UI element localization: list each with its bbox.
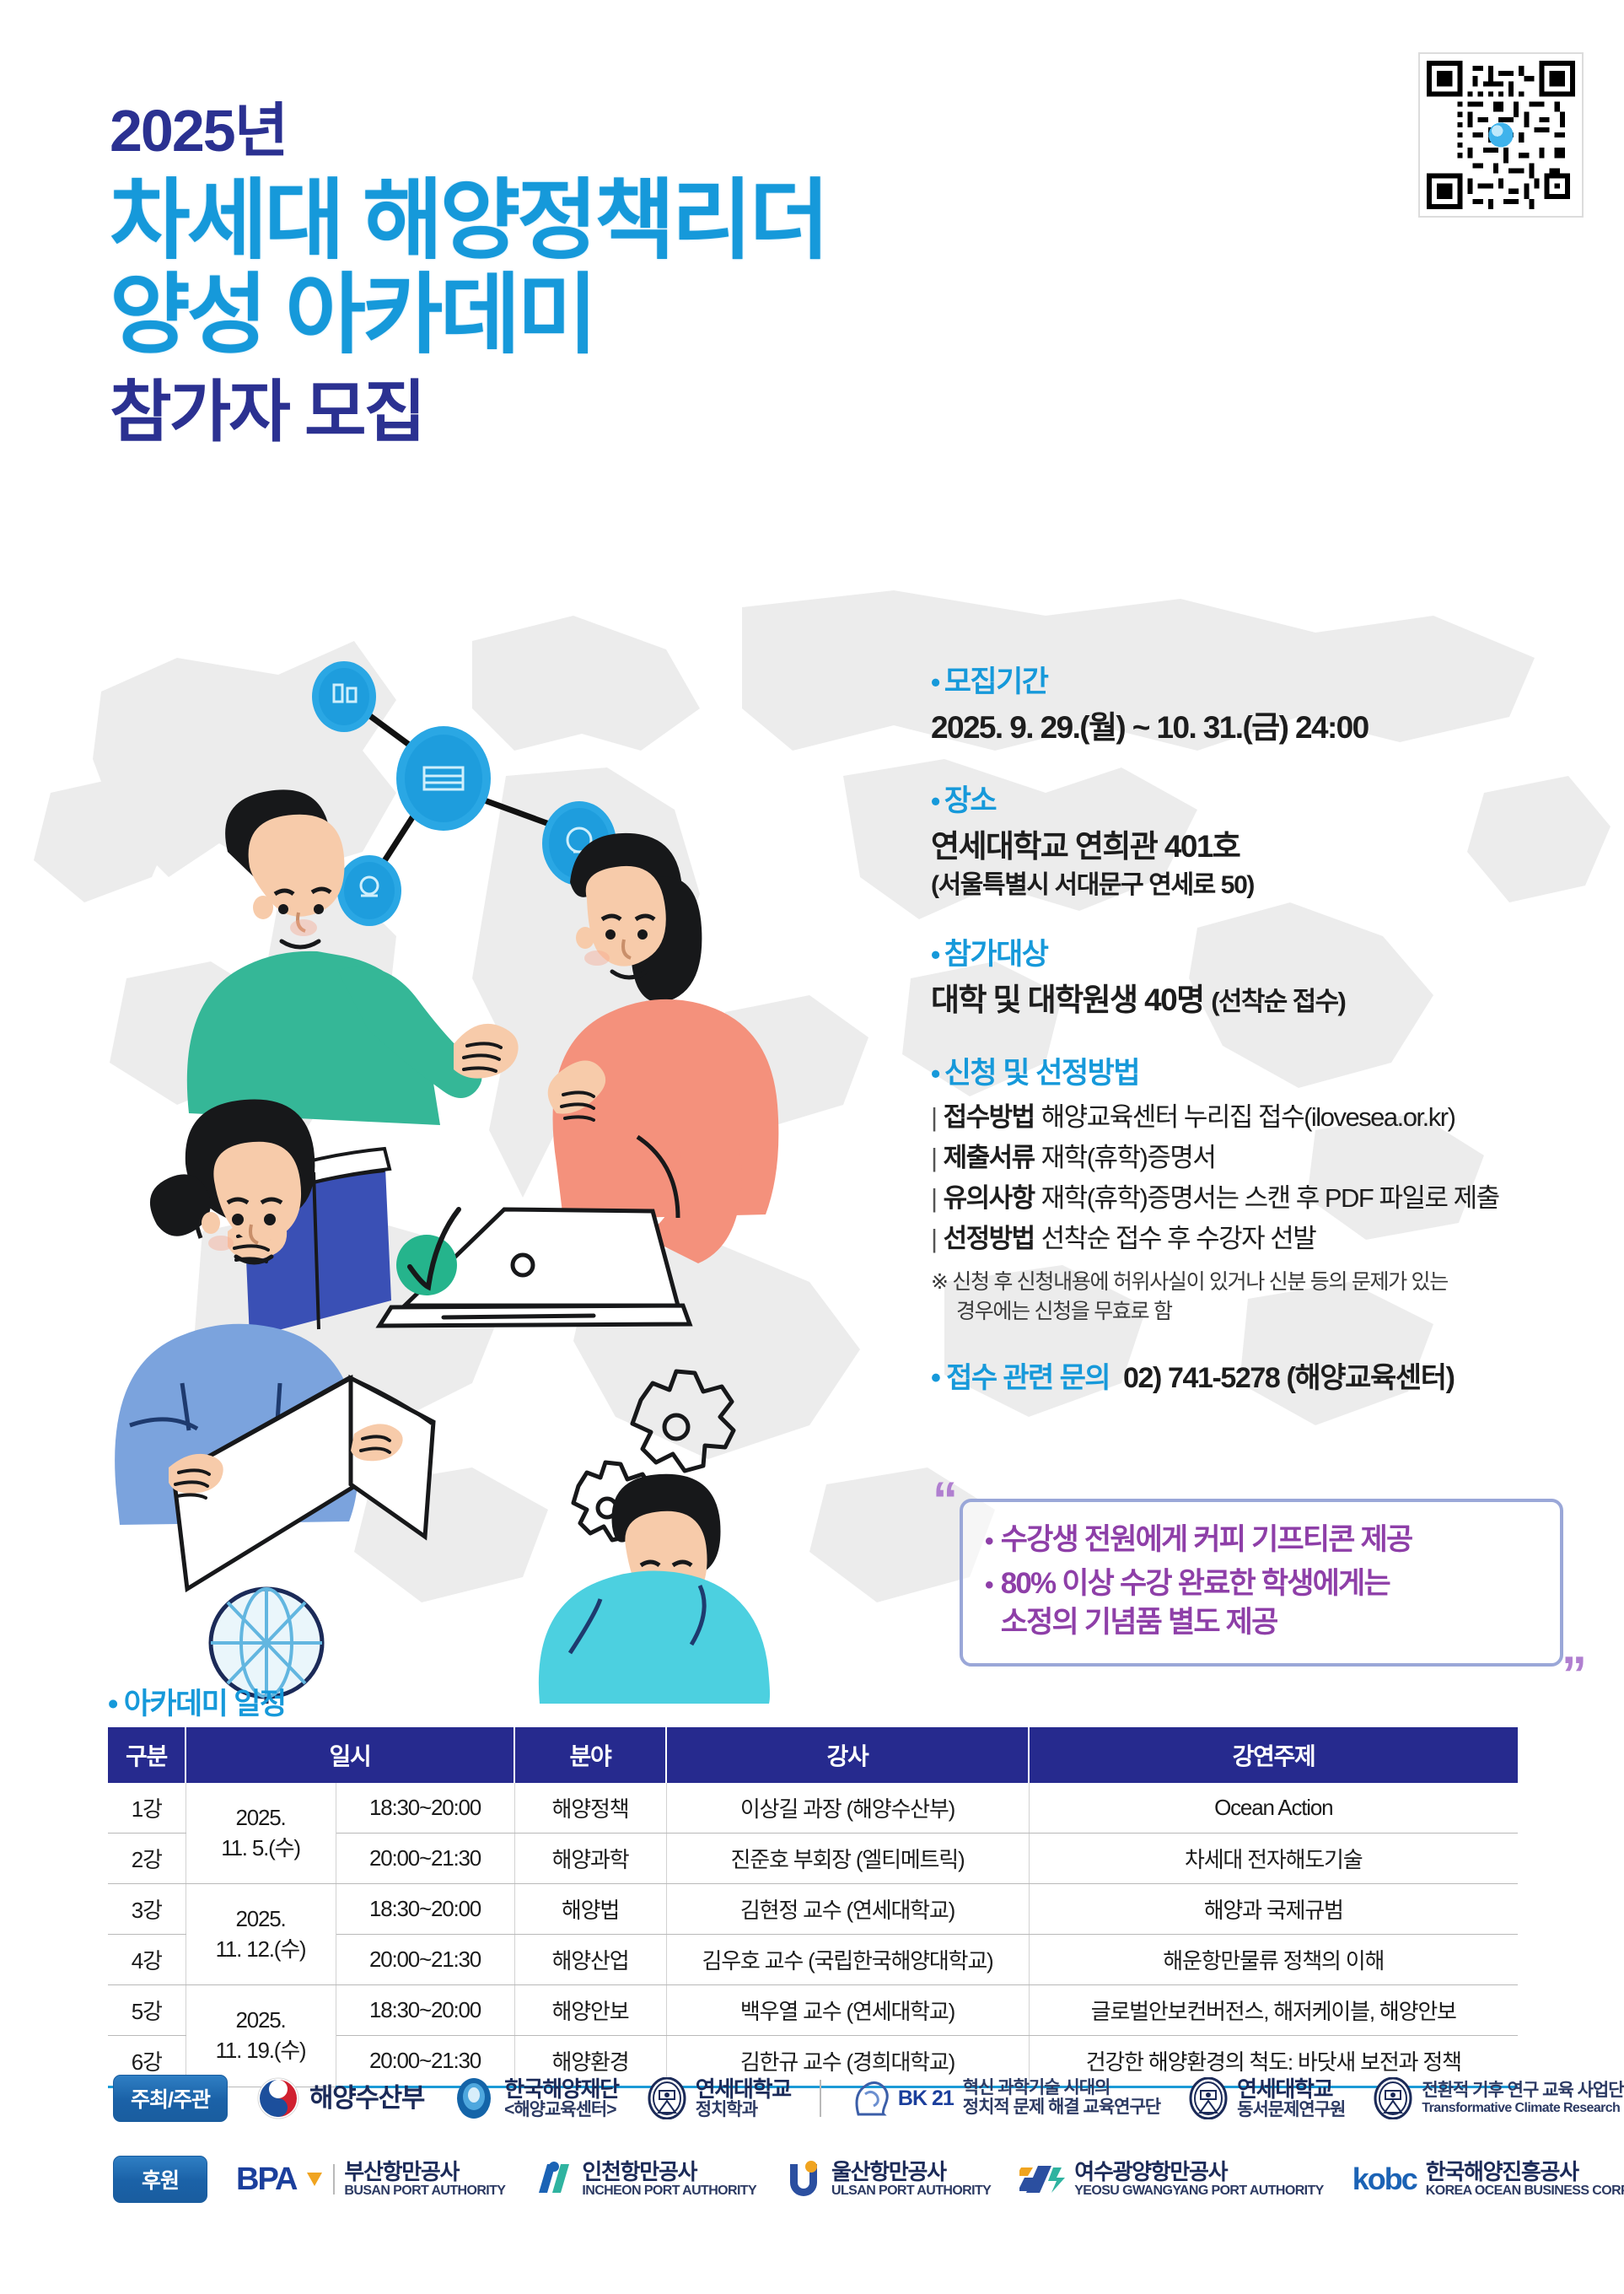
logo-name: 해양수산부 — [309, 2084, 424, 2112]
table-row: 3강 2025. 11. 12.(수) 18:30~20:00 해양법 김현정 … — [108, 1884, 1518, 1935]
period-heading-text: 모집기간 — [944, 658, 1048, 701]
person-writing-illustration — [539, 1474, 770, 1704]
logo-sub: 정치적 문제 해결 교육연구단 — [963, 2098, 1160, 2118]
apply-note-line-1: ※ 신청 후 신청내용에 허위사실이 있거나 신분 등의 문제가 있는 — [931, 1270, 1448, 1294]
logo-text: 연세대학교 정치학과 — [696, 2077, 791, 2120]
cell-time: 18:30~20:00 — [336, 1884, 514, 1935]
logo-text: 전환적 기후 연구 교육 사업단 Transformative Climate … — [1422, 2081, 1623, 2115]
benefit-item-text: 수강생 전원에게 커피 기프티콘 제공 — [1001, 1521, 1412, 1559]
upa-icon — [785, 2159, 822, 2200]
apply-row: | 제출서류 재학(휴학)증명서 — [931, 1139, 1597, 1177]
qr-code-icon — [1427, 61, 1575, 209]
section-period: • 모집기간 2025. 9. 29.(월) ~ 10. 31.(금) 24:0… — [931, 658, 1597, 748]
th-datetime: 일시 — [186, 1727, 514, 1783]
ygpa-icon — [1019, 2161, 1065, 2198]
illustration-group — [101, 641, 944, 1704]
network-diagram-icon — [312, 661, 616, 926]
target-heading: • 참가대상 — [931, 930, 1597, 973]
yonsei-shield-icon — [1374, 2077, 1412, 2119]
schedule-title-text: 아카데미 일정 — [124, 1688, 286, 1720]
logo-name: 인천항만공사 — [582, 2160, 756, 2184]
target-value-row: 대학 및 대학원생 40명 (선착순 접수) — [931, 980, 1597, 1020]
sponsor-badge: 후원 — [113, 2156, 207, 2203]
th-field: 분야 — [514, 1727, 666, 1783]
bullet-dot-icon: • — [108, 1688, 117, 1720]
contact-heading-text: 접수 관련 문의 — [946, 1362, 1110, 1394]
th-topic: 강연주제 — [1029, 1727, 1518, 1783]
info-column: • 모집기간 2025. 9. 29.(월) ~ 10. 31.(금) 24:0… — [931, 658, 1597, 1424]
apply-row: | 선정방법 선착순 접수 후 수강자 선발 — [931, 1220, 1597, 1257]
logo-sub: INCHEON PORT AUTHORITY — [582, 2184, 756, 2198]
logo-sub: ULSAN PORT AUTHORITY — [831, 2184, 991, 2198]
benefits-list: • 수강생 전원에게 커피 기프티콘 제공 • 80% 이상 수강 완료한 학생… — [960, 1499, 1563, 1667]
cell-time: 20:00~21:30 — [336, 1935, 514, 1985]
cell-field: 해양법 — [514, 1884, 666, 1935]
cell-lecturer: 백우열 교수 (연세대학교) — [666, 1985, 1029, 2036]
cell-field: 해양과학 — [514, 1834, 666, 1884]
quote-close-icon: ” — [1562, 1650, 1587, 1700]
benefit-item-text-2: 소정의 기념품 별도 제공 — [1001, 1603, 1390, 1642]
row-bar-icon: | — [931, 1139, 937, 1177]
bullet-dot-icon: • — [931, 1060, 939, 1087]
quote-open-icon: “ — [933, 1475, 958, 1526]
logo-text: 해양수산부 — [309, 2084, 424, 2112]
apply-row-label: 접수방법 — [944, 1099, 1035, 1136]
cell-gubun: 1강 — [108, 1783, 186, 1834]
schedule-title: • 아카데미 일정 — [108, 1680, 286, 1723]
cell-gubun: 3강 — [108, 1884, 186, 1935]
logo-kof: 한국해양재단 <해양교육센터> — [453, 2077, 619, 2120]
logo-sub: KOREA OCEAN BUSINESS CORPORATION — [1426, 2184, 1624, 2198]
bullet-dot-icon: • — [985, 1569, 992, 1602]
main-title-line-1: 차세대 해양정책리더 — [110, 174, 826, 268]
schedule-table: 구분 일시 분야 강사 강연주제 1강 2025. 11. 5.(수) 18:3… — [108, 1727, 1518, 2088]
table-row: 5강 2025. 11. 19.(수) 18:30~20:00 해양안보 백우열… — [108, 1985, 1518, 2036]
yonsei-shield-icon — [1189, 2077, 1228, 2119]
logo-text: 울산항만공사 ULSAN PORT AUTHORITY — [831, 2160, 991, 2198]
logo-sub: <해양교육센터> — [504, 2101, 619, 2120]
yonsei-shield-icon — [648, 2077, 686, 2119]
main-title-line-2: 양성 아카데미 — [110, 268, 826, 363]
logo-name: 연세대학교 — [1237, 2077, 1345, 2101]
cell-topic: 차세대 전자해도기술 — [1029, 1834, 1518, 1884]
apply-note: ※ 신청 후 신청내용에 허위사실이 있거나 신분 등의 문제가 있는 경우에는… — [931, 1268, 1597, 1326]
logo-name: 연세대학교 — [696, 2077, 791, 2101]
place-heading: • 장소 — [931, 777, 1597, 820]
cell-date-day: 11. 5.(수) — [191, 1831, 331, 1862]
apply-row-value: 재학(휴학)증명서 — [1041, 1139, 1216, 1177]
cell-field: 해양안보 — [514, 1985, 666, 2036]
bullet-dot-icon: • — [931, 941, 939, 968]
apply-heading-text: 신청 및 선정방법 — [944, 1049, 1139, 1092]
contact-row: • 접수 관련 문의 02) 741-5278 (해양교육센터) — [931, 1354, 1597, 1396]
bpa-wordmark: BPA — [236, 2162, 296, 2198]
logo-ipa: 인천항만공사 INCHEON PORT AUTHORITY — [534, 2159, 756, 2200]
th-lecturer: 강사 — [666, 1727, 1029, 1783]
target-value-note: (선착순 접수) — [1211, 987, 1345, 1016]
bk21-head-icon — [850, 2077, 889, 2119]
table-header-row: 구분 일시 분야 강사 강연주제 — [108, 1727, 1518, 1783]
cell-gubun: 5강 — [108, 1985, 186, 2036]
cell-topic: 글로벌안보컨버전스, 해저케이블, 해양안보 — [1029, 1985, 1518, 2036]
apply-row-value: 선착순 접수 후 수강자 선발 — [1041, 1220, 1316, 1257]
cell-topic: Ocean Action — [1029, 1783, 1518, 1834]
section-place: • 장소 연세대학교 연희관 401호 (서울특별시 서대문구 연세로 50) — [931, 777, 1597, 902]
benefit-item-text: 80% 이상 수강 완료한 학생에게는 — [1001, 1567, 1390, 1600]
logo-bk21: BK 21 혁신 과학기술 시대의 정치적 문제 해결 교육연구단 — [850, 2077, 1160, 2119]
logo-kobc: kobc 한국해양진흥공사 KOREA OCEAN BUSINESS CORPO… — [1352, 2160, 1624, 2198]
contact-heading: • 접수 관련 문의 — [931, 1354, 1110, 1396]
table-row: 1강 2025. 11. 5.(수) 18:30~20:00 해양정책 이상길 … — [108, 1783, 1518, 1834]
cell-gubun: 2강 — [108, 1834, 186, 1884]
logo-text: 한국해양진흥공사 KOREA OCEAN BUSINESS CORPORATIO… — [1426, 2160, 1624, 2198]
bk21-wordmark: BK 21 — [898, 2087, 954, 2110]
cell-lecturer: 김우호 교수 (국립한국해양대학교) — [666, 1935, 1029, 1985]
logo-mof: 해양수산부 — [256, 2076, 424, 2120]
ipa-icon — [534, 2159, 573, 2200]
bullet-dot-icon: • — [931, 1362, 939, 1394]
apply-row-label: 유의사항 — [944, 1180, 1035, 1217]
logo-text: 부산항만공사 BUSAN PORT AUTHORITY — [344, 2160, 505, 2198]
cell-topic: 해운항만물류 정책의 이해 — [1029, 1935, 1518, 1985]
footer: 주최/주관 해양수산부 한국해양재단 — [0, 2058, 1624, 2220]
qr-code[interactable] — [1418, 52, 1584, 218]
bullet-dot-icon: • — [931, 669, 939, 696]
cell-date: 2025. 11. 12.(수) — [186, 1884, 336, 1985]
place-heading-text: 장소 — [944, 777, 996, 820]
logo-name: 전환적 기후 연구 교육 사업단 — [1422, 2081, 1623, 2101]
cell-time: 18:30~20:00 — [336, 1783, 514, 1834]
cell-date-year: 2025. — [191, 1906, 331, 1932]
logo-name: 한국해양재단 — [504, 2077, 619, 2101]
cell-lecturer: 이상길 과장 (해양수산부) — [666, 1783, 1029, 1834]
schedule-table-head: 구분 일시 분야 강사 강연주제 — [108, 1727, 1518, 1783]
apply-row-label: 선정방법 — [944, 1220, 1035, 1257]
logo-yonsei-ewyi: 연세대학교 동서문제연구원 — [1189, 2077, 1345, 2120]
logo-sub: 동서문제연구원 — [1237, 2101, 1345, 2120]
kobc-wordmark: kobc — [1352, 2162, 1417, 2197]
bullet-dot-icon: • — [985, 1525, 992, 1559]
apply-row: | 유의사항 재학(휴학)증명서는 스캔 후 PDF 파일로 제출 — [931, 1180, 1597, 1217]
logo-divider — [333, 2164, 335, 2194]
logo-text: 연세대학교 동서문제연구원 — [1237, 2077, 1345, 2120]
cell-date-year: 2025. — [191, 1805, 331, 1831]
contact-value[interactable]: 02) 741-5278 (해양교육센터) — [1123, 1354, 1455, 1396]
bullet-dot-icon: • — [931, 788, 939, 815]
logo-text: 인천항만공사 INCHEON PORT AUTHORITY — [582, 2160, 756, 2198]
benefit-item: • 수강생 전원에게 커피 기프티콘 제공 — [985, 1521, 1538, 1559]
row-bar-icon: | — [931, 1099, 937, 1136]
target-heading-text: 참가대상 — [944, 930, 1048, 973]
logo-text: 혁신 과학기술 시대의 정치적 문제 해결 교육연구단 — [963, 2079, 1160, 2117]
cell-lecturer: 김현정 교수 (연세대학교) — [666, 1884, 1029, 1935]
korea-gov-taegeuk-icon — [256, 2076, 300, 2120]
subtitle: 참가자 모집 — [110, 375, 826, 450]
cell-field: 해양정책 — [514, 1783, 666, 1834]
year-label: 2025년 — [110, 101, 826, 160]
logo-sub: Transformative Climate Research — [1422, 2101, 1623, 2115]
cell-time: 18:30~20:00 — [336, 1985, 514, 2036]
logo-climate-research: 전환적 기후 연구 교육 사업단 Transformative Climate … — [1374, 2077, 1623, 2119]
host-row: 주최/주관 해양수산부 한국해양재단 — [0, 2058, 1624, 2139]
logo-divider — [820, 2080, 821, 2117]
schedule-table-body: 1강 2025. 11. 5.(수) 18:30~20:00 해양정책 이상길 … — [108, 1783, 1518, 2087]
schedule-table-wrap: 구분 일시 분야 강사 강연주제 1강 2025. 11. 5.(수) 18:3… — [108, 1727, 1518, 2088]
cell-time: 20:00~21:30 — [336, 1834, 514, 1884]
cell-field: 해양산업 — [514, 1935, 666, 1985]
cell-date: 2025. 11. 5.(수) — [186, 1783, 336, 1884]
logo-sub: 정치학과 — [696, 2101, 791, 2120]
logo-bpa: BPA 부산항만공사 BUSAN PORT AUTHORITY — [236, 2160, 505, 2198]
logo-name: 울산항만공사 — [831, 2160, 991, 2184]
section-apply: • 신청 및 선정방법 | 접수방법 해양교육센터 누리집 접수(ilovese… — [931, 1049, 1597, 1326]
logo-name: 혁신 과학기술 시대의 — [963, 2079, 1160, 2098]
logo-name: 부산항만공사 — [344, 2160, 505, 2184]
bpa-triangle-icon — [305, 2170, 324, 2189]
benefit-item-text-group: 80% 이상 수강 완료한 학생에게는 소정의 기념품 별도 제공 — [1001, 1564, 1390, 1642]
place-address: (서울특별시 서대문구 연세로 50) — [931, 869, 1597, 902]
cell-date-year: 2025. — [191, 2007, 331, 2033]
place-value: 연세대학교 연희관 401호 — [931, 827, 1597, 867]
benefits-quote-box: “ ” • 수강생 전원에게 커피 기프티콘 제공 • 80% 이상 수강 완료… — [931, 1480, 1589, 1667]
logo-ygpa: 여수광양항만공사 YEOSU GWANGYANG PORT AUTHORITY — [1019, 2160, 1324, 2198]
host-badge: 주최/주관 — [113, 2075, 228, 2122]
cell-gubun: 4강 — [108, 1935, 186, 1985]
row-bar-icon: | — [931, 1180, 937, 1217]
period-value: 2025. 9. 29.(월) ~ 10. 31.(금) 24:00 — [931, 708, 1597, 748]
cell-date-day: 11. 12.(수) — [191, 1932, 331, 1963]
target-value: 대학 및 대학원생 40명 — [931, 983, 1204, 1017]
logo-yonsei-politics: 연세대학교 정치학과 — [648, 2077, 791, 2120]
sponsor-row: 후원 BPA 부산항만공사 BUSAN PORT AUTHORITY — [0, 2139, 1624, 2220]
logo-sub: YEOSU GWANGYANG PORT AUTHORITY — [1074, 2184, 1324, 2198]
logo-sub: BUSAN PORT AUTHORITY — [344, 2184, 505, 2198]
poster-root: 2025년 차세대 해양정책리더 양성 아카데미 참가자 모집 — [0, 0, 1624, 2294]
section-target: • 참가대상 대학 및 대학원생 40명 (선착순 접수) — [931, 930, 1597, 1020]
section-contact: • 접수 관련 문의 02) 741-5278 (해양교육센터) — [931, 1354, 1597, 1396]
apply-heading: • 신청 및 선정방법 — [931, 1049, 1597, 1092]
person-reading-illustration — [115, 1099, 459, 1589]
kof-circle-icon — [453, 2077, 495, 2119]
row-bar-icon: | — [931, 1220, 937, 1257]
apply-row-value[interactable]: 해양교육센터 누리집 접수(ilovesea.or.kr) — [1041, 1099, 1455, 1136]
cell-topic: 해양과 국제규범 — [1029, 1884, 1518, 1935]
apply-row: | 접수방법 해양교육센터 누리집 접수(ilovesea.or.kr) — [931, 1099, 1597, 1136]
benefit-item: • 80% 이상 수강 완료한 학생에게는 소정의 기념품 별도 제공 — [985, 1564, 1538, 1642]
period-heading: • 모집기간 — [931, 658, 1597, 701]
apply-row-value: 재학(휴학)증명서는 스캔 후 PDF 파일로 제출 — [1041, 1180, 1499, 1217]
th-gubun: 구분 — [108, 1727, 186, 1783]
apply-row-label: 제출서류 — [944, 1139, 1035, 1177]
logo-name: 여수광양항만공사 — [1074, 2160, 1324, 2184]
logo-text: 여수광양항만공사 YEOSU GWANGYANG PORT AUTHORITY — [1074, 2160, 1324, 2198]
title-block: 2025년 차세대 해양정책리더 양성 아카데미 참가자 모집 — [110, 101, 826, 450]
logo-name: 한국해양진흥공사 — [1426, 2160, 1624, 2184]
logo-text: BK 21 — [898, 2087, 954, 2110]
logo-upa: 울산항만공사 ULSAN PORT AUTHORITY — [785, 2159, 991, 2200]
logo-text: 한국해양재단 <해양교육센터> — [504, 2077, 619, 2120]
apply-note-line-2: 경우에는 신청을 무효로 함 — [931, 1297, 1597, 1327]
cell-lecturer: 진준호 부회장 (엘티메트릭) — [666, 1834, 1029, 1884]
